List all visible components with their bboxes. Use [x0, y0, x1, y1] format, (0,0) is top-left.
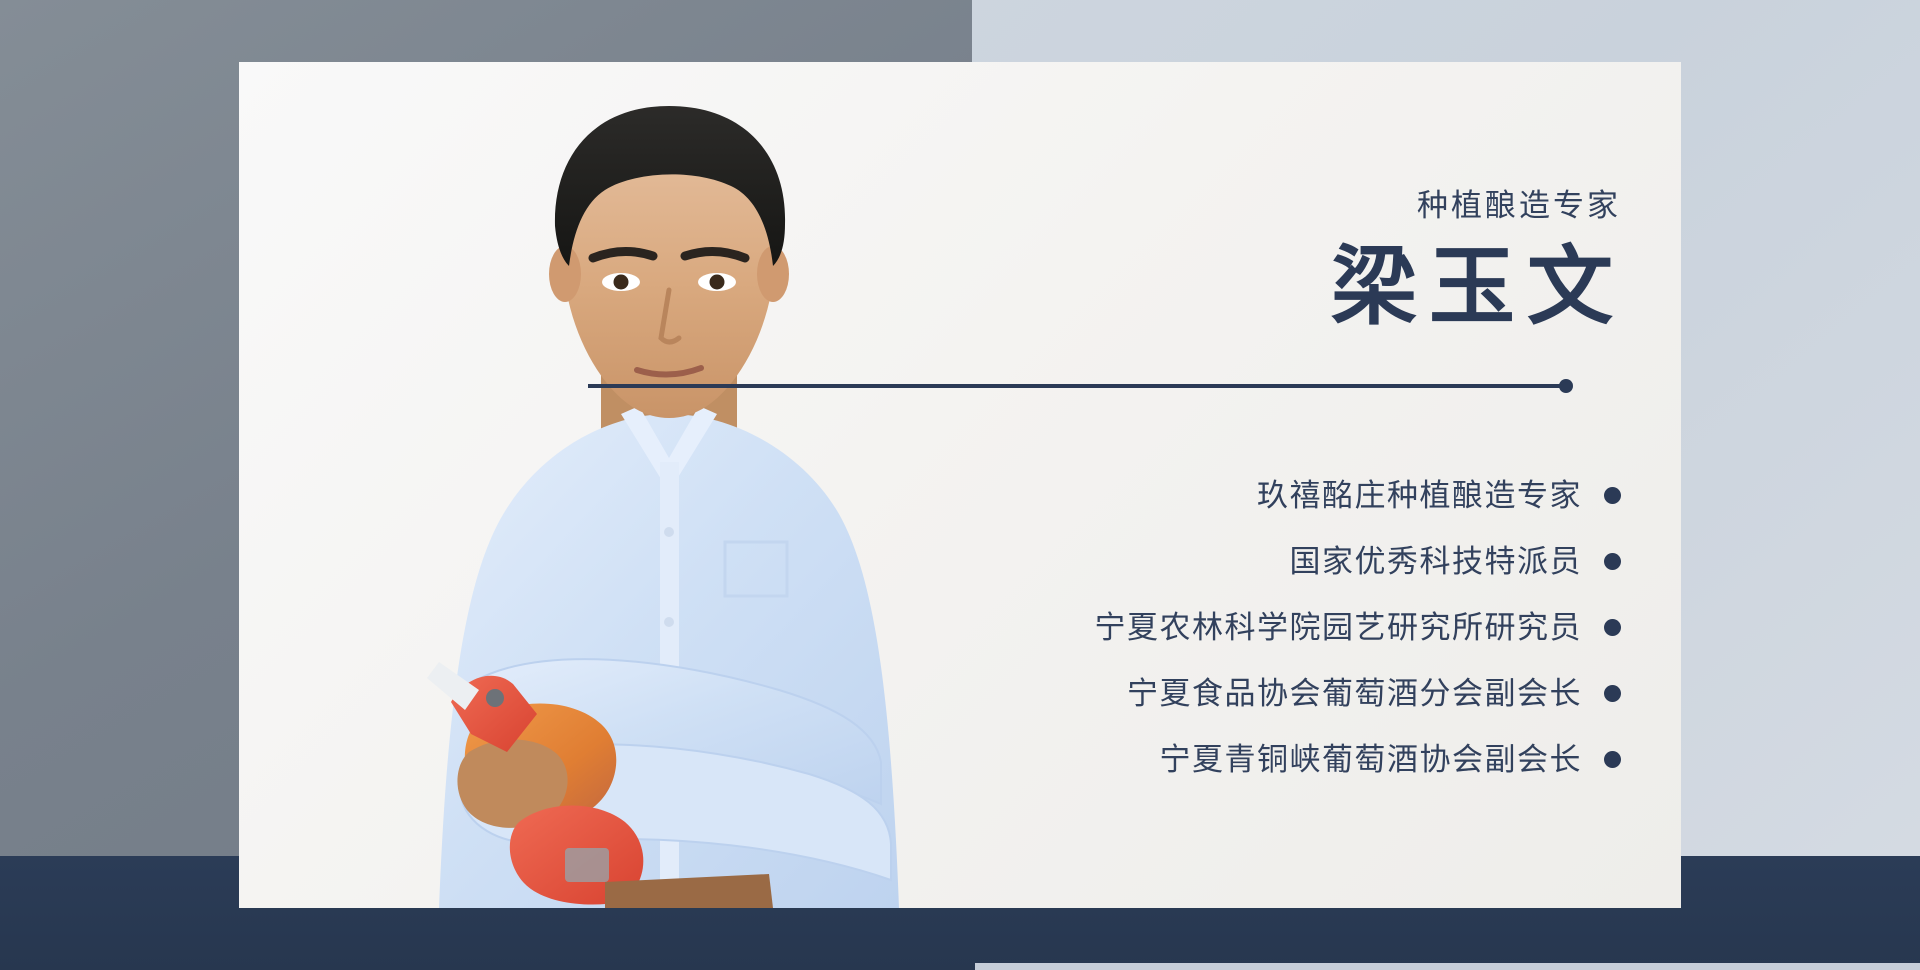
- divider-end-dot: [1559, 379, 1573, 393]
- divider-line: [588, 384, 1565, 388]
- bullet-dot-icon: [1604, 685, 1621, 702]
- list-item: 宁夏青铜峡葡萄酒协会副会长: [791, 726, 1621, 792]
- list-item: 玖禧酩庄种植酿造专家: [791, 462, 1621, 528]
- expert-profile-card: 种植酿造专家 梁玉文 玖禧酩庄种植酿造专家 国家优秀科技特派员 宁夏农林科学院园…: [239, 62, 1681, 908]
- expert-name: 梁玉文: [1331, 244, 1625, 330]
- bullet-dot-icon: [1604, 619, 1621, 636]
- credential-label: 宁夏农林科学院园艺研究所研究员: [1095, 612, 1583, 643]
- credential-label: 宁夏青铜峡葡萄酒协会副会长: [1160, 744, 1583, 775]
- list-item: 宁夏农林科学院园艺研究所研究员: [791, 594, 1621, 660]
- credential-label: 国家优秀科技特派员: [1290, 546, 1583, 577]
- list-item: 国家优秀科技特派员: [791, 528, 1621, 594]
- bullet-dot-icon: [1604, 751, 1621, 768]
- background-bottom-strip: [975, 963, 1920, 970]
- role-title: 种植酿造专家: [1417, 190, 1621, 221]
- credentials-list: 玖禧酩庄种植酿造专家 国家优秀科技特派员 宁夏农林科学院园艺研究所研究员 宁夏食…: [791, 462, 1621, 792]
- poster-canvas: 种植酿造专家 梁玉文 玖禧酩庄种植酿造专家 国家优秀科技特派员 宁夏农林科学院园…: [0, 0, 1920, 970]
- expert-info-column: 种植酿造专家 梁玉文 玖禧酩庄种植酿造专家 国家优秀科技特派员 宁夏农林科学院园…: [791, 62, 1621, 908]
- bullet-dot-icon: [1604, 553, 1621, 570]
- list-item: 宁夏食品协会葡萄酒分会副会长: [791, 660, 1621, 726]
- credential-label: 玖禧酩庄种植酿造专家: [1257, 480, 1582, 511]
- bullet-dot-icon: [1604, 487, 1621, 504]
- credential-label: 宁夏食品协会葡萄酒分会副会长: [1127, 678, 1582, 709]
